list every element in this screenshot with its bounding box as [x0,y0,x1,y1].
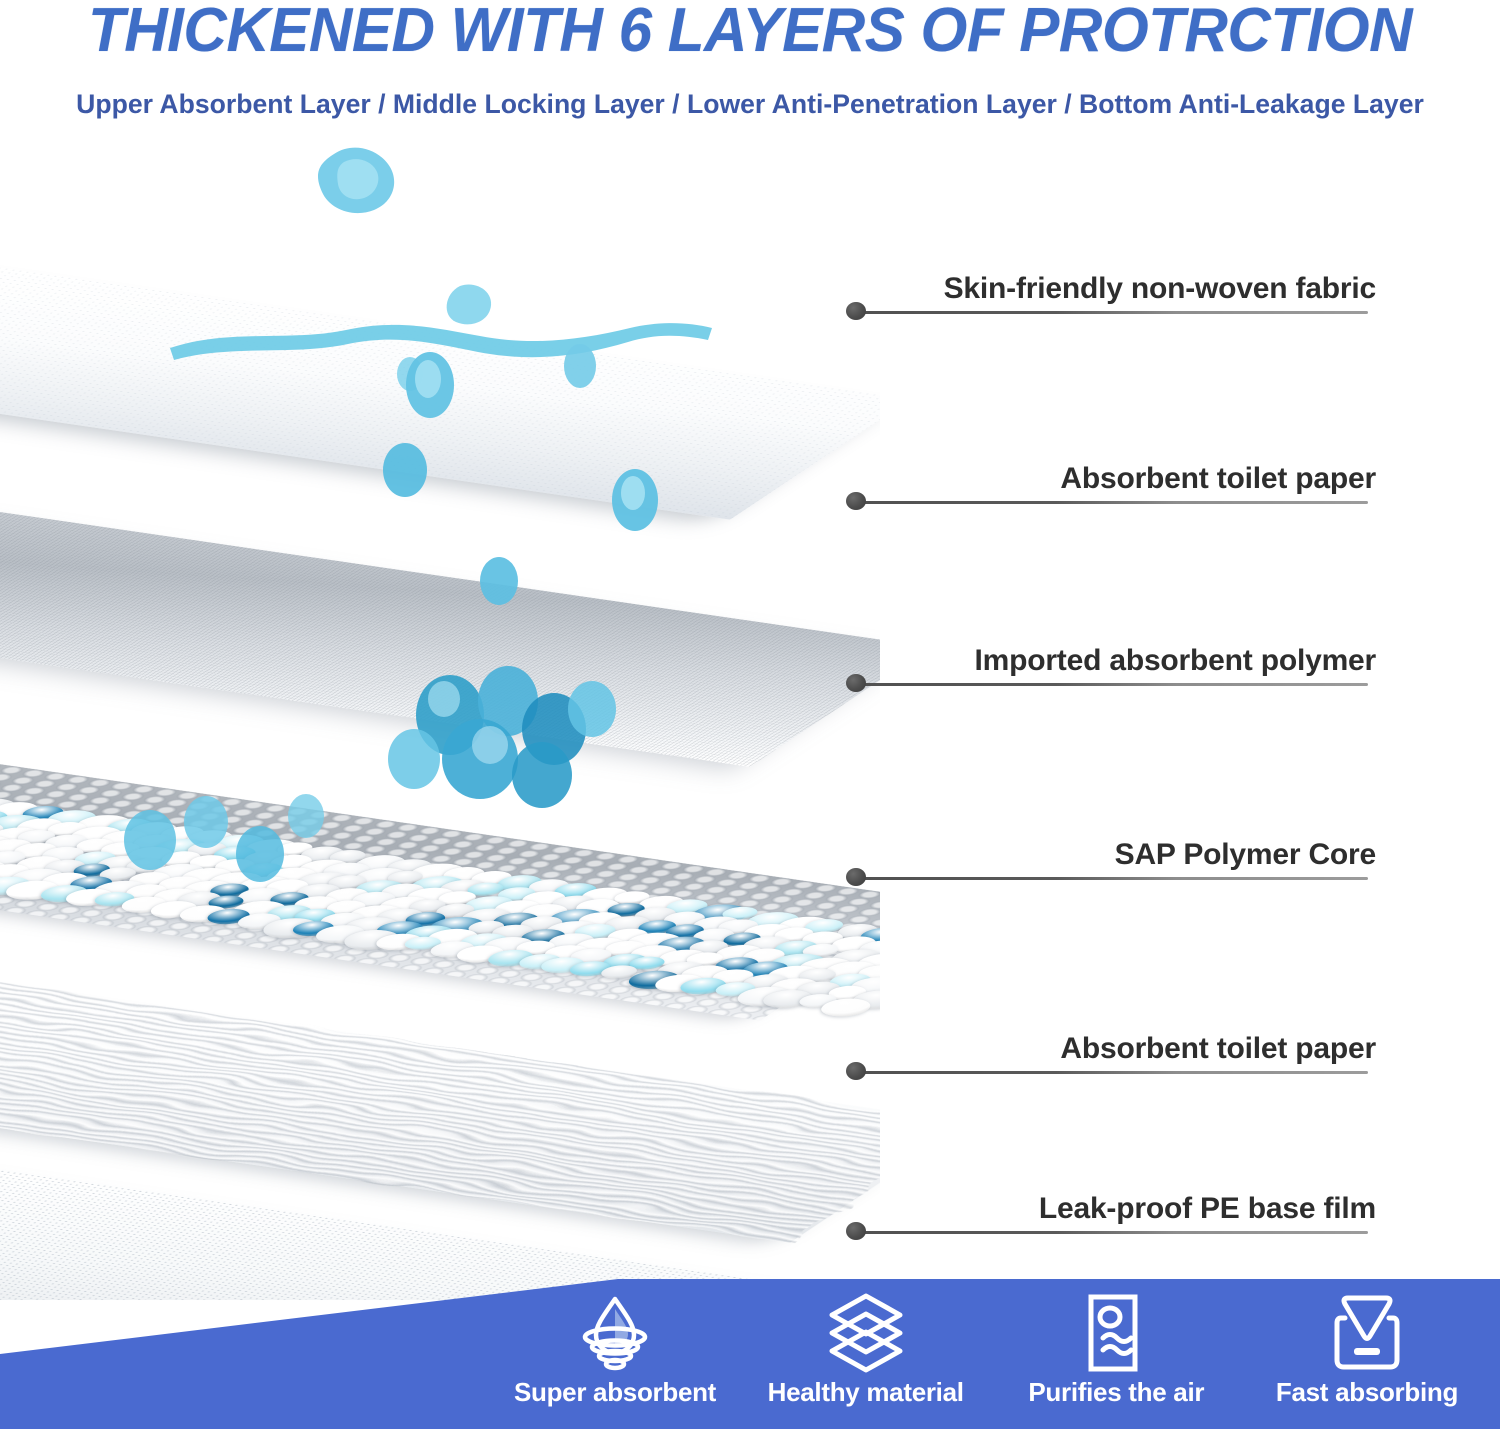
callout-absorbent-toilet-paper-lower: Absorbent toilet paper [846,1018,1376,1088]
feature-label: Super absorbent [514,1377,716,1408]
callout-leader-line [864,877,1368,880]
callout-leader-line [864,1231,1368,1234]
callout-label: Imported absorbent polymer [846,644,1376,678]
callout-leader-line [864,501,1368,504]
callout-label: Absorbent toilet paper [846,462,1376,496]
callout-label: SAP Polymer Core [846,838,1376,872]
feature-banner: Super absorbent Healthy material [0,1279,1500,1429]
callout-dot-marker [846,1062,866,1080]
feature-label: Purifies the air [1028,1377,1204,1408]
callout-leader-line [864,1071,1368,1074]
callout-dot-marker [846,492,866,510]
callout-dot-marker [846,868,866,886]
feature-banner-items: Super absorbent Healthy material [470,1279,1500,1429]
feature-healthy-material: Healthy material [747,1293,985,1408]
callout-dot-marker [846,302,866,320]
feature-label: Healthy material [768,1377,964,1408]
water-drop-ripple-icon [578,1293,652,1373]
feature-super-absorbent: Super absorbent [496,1293,734,1408]
callout-absorbent-toilet-paper-upper: Absorbent toilet paper [846,448,1376,518]
callout-dot-marker [846,674,866,692]
callout-leader-line [864,311,1368,314]
callout-label: Absorbent toilet paper [846,1032,1376,1066]
air-purify-icon [1083,1293,1149,1373]
callout-skin-friendly-non-woven-fabric: Skin-friendly non-woven fabric [846,258,1376,328]
callout-sap-polymer-core: SAP Polymer Core [846,824,1376,894]
callout-leader-line [864,683,1368,686]
layers-diamond-icon [826,1293,906,1373]
feature-purifies-the-air: Purifies the air [997,1293,1235,1408]
feature-fast-absorbing: Fast absorbing [1248,1293,1486,1408]
callout-list: Skin-friendly non-woven fabric Absorbent… [0,0,1500,1280]
callout-imported-absorbent-polymer: Imported absorbent polymer [846,630,1376,700]
callout-leak-proof-pe-base-film: Leak-proof PE base film [846,1178,1376,1248]
product-infographic: THICKENED WITH 6 LAYERS OF PROTRCTION Up… [0,0,1500,1429]
callout-label: Skin-friendly non-woven fabric [846,272,1376,306]
callout-label: Leak-proof PE base film [846,1192,1376,1226]
callout-dot-marker [846,1222,866,1240]
feature-label: Fast absorbing [1276,1377,1458,1408]
fast-absorb-funnel-icon [1332,1293,1402,1373]
